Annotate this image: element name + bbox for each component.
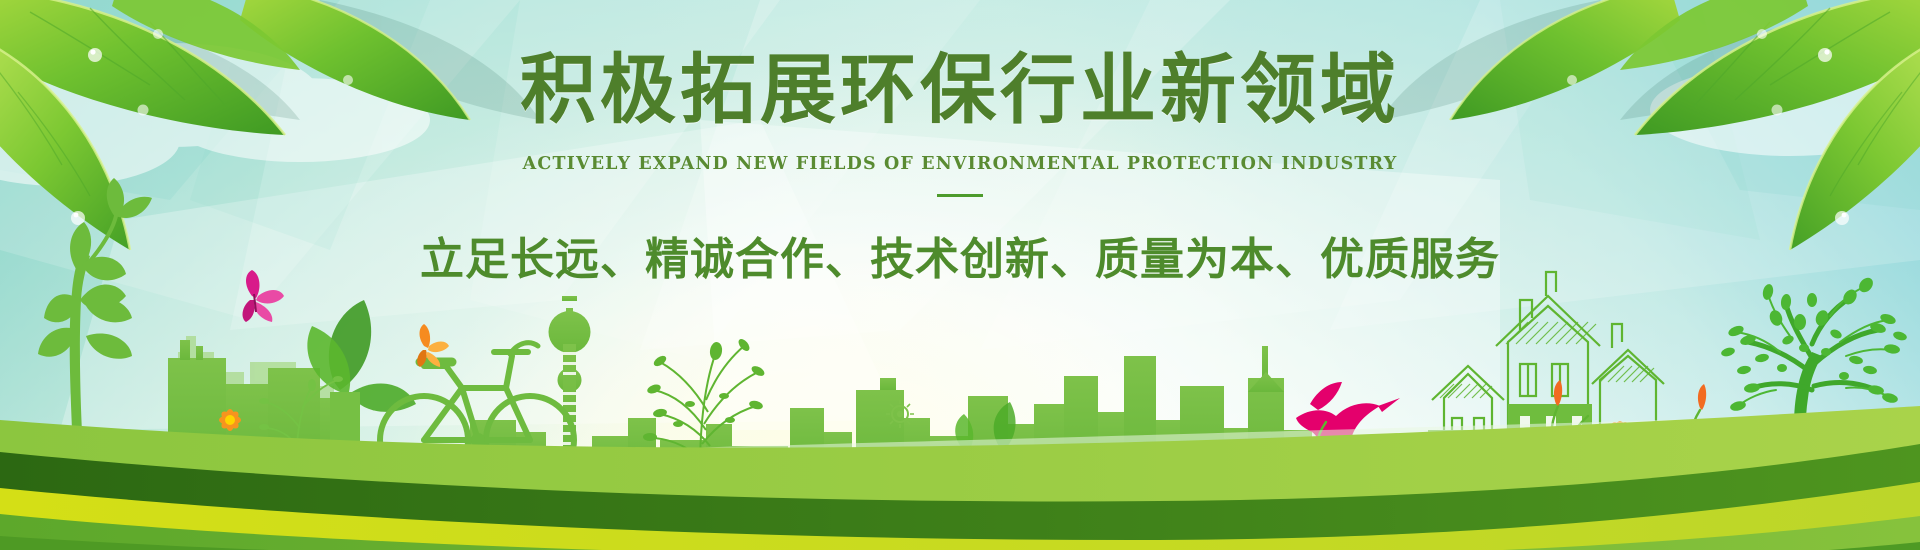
banner-text-block: 积极拓展环保行业新领域 ACTIVELY EXPAND NEW FIELDS O… xyxy=(0,52,1920,287)
page-title: 积极拓展环保行业新领域 xyxy=(0,52,1920,128)
section-divider xyxy=(937,194,983,197)
divider-wrapper xyxy=(0,194,1920,197)
tagline-chinese: 立足长远、精诚合作、技术创新、质量为本、优质服务 xyxy=(0,223,1920,287)
subtitle-english: ACTIVELY EXPAND NEW FIELDS OF ENVIRONMEN… xyxy=(0,154,1920,174)
eco-banner: 积极拓展环保行业新领域 ACTIVELY EXPAND NEW FIELDS O… xyxy=(0,0,1920,550)
